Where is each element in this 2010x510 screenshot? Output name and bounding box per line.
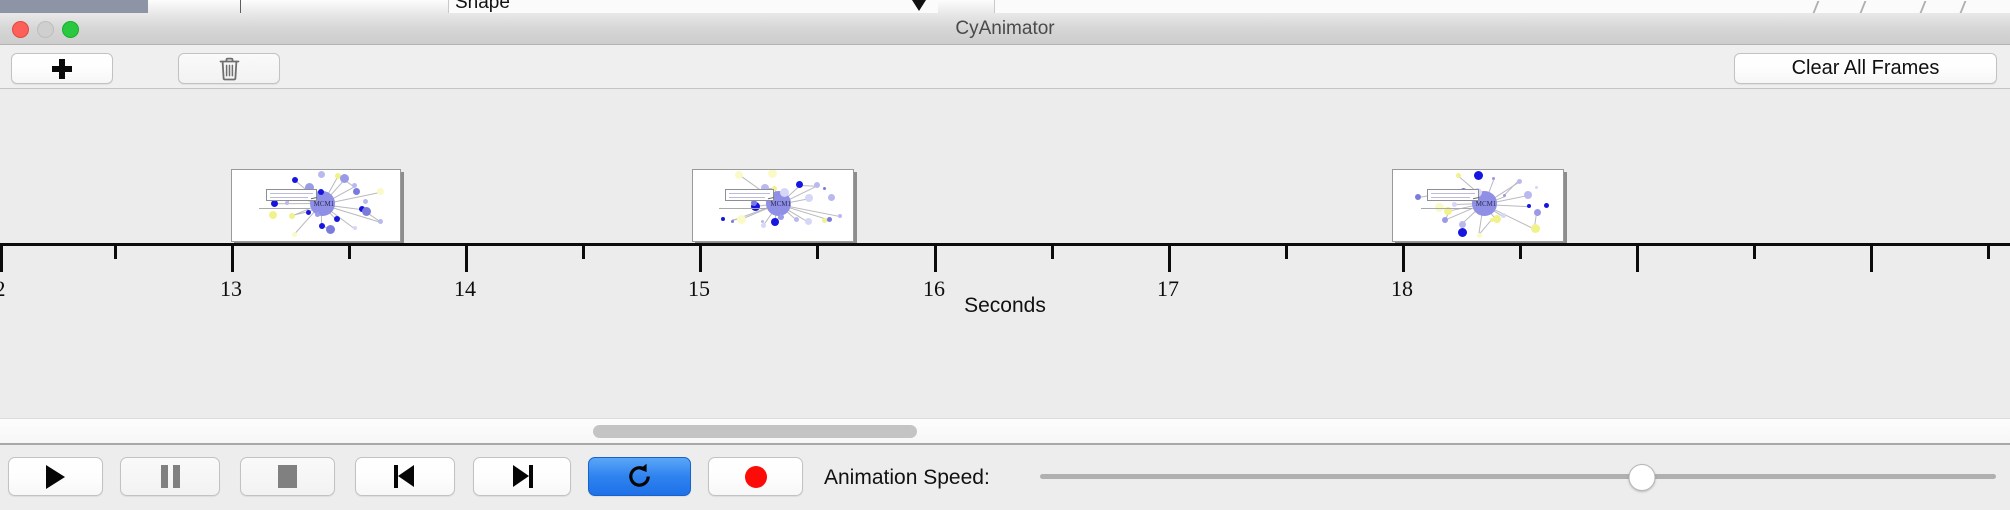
graph-node — [768, 170, 777, 178]
graph-node — [778, 214, 784, 220]
graph-node — [761, 223, 766, 228]
frame-thumbnail-1[interactable]: MCM1 — [231, 169, 401, 242]
ruler-tick-major — [1636, 246, 1639, 272]
background-chevron-icon — [1860, 1, 1881, 13]
graph-node — [828, 194, 835, 201]
graph-node — [1477, 233, 1482, 238]
graph-node — [1534, 209, 1541, 216]
ruler-tick-major — [1402, 246, 1405, 272]
trash-icon — [219, 57, 240, 81]
graph-caption-line — [719, 208, 768, 209]
ruler-tick-minor — [1051, 246, 1054, 259]
background-cell — [276, 0, 321, 13]
frame-network-thumbnail: MCM1 — [1393, 170, 1563, 241]
graph-node — [271, 200, 278, 207]
graph-node — [289, 213, 295, 219]
annotation-text-line — [1431, 193, 1475, 194]
scrollbar-thumb[interactable] — [593, 425, 917, 438]
background-chevron-icon — [1960, 1, 1981, 13]
toolbar: Clear All Frames — [0, 45, 2010, 89]
ruler-tick-major — [231, 246, 234, 272]
graph-node — [1415, 194, 1421, 200]
title-bar: CyAnimator — [0, 13, 2010, 45]
annotation-text-line — [270, 193, 313, 194]
graph-node — [1458, 228, 1467, 237]
ruler-axis-line — [0, 243, 2010, 246]
horizontal-scrollbar[interactable] — [0, 418, 2010, 443]
graph-annotation-box — [1427, 189, 1479, 201]
graph-annotation-box — [725, 189, 774, 201]
playback-toolbar: Animation Speed: — [0, 443, 2010, 510]
ruler-tick-major — [0, 246, 3, 272]
slider-thumb[interactable] — [1629, 464, 1656, 491]
ruler-tick-minor — [1753, 246, 1756, 259]
ruler-tick-minor — [1519, 246, 1522, 259]
graph-node — [1501, 213, 1506, 218]
graph-node — [827, 217, 832, 222]
background-cell — [380, 0, 449, 13]
animation-speed-slider[interactable] — [1040, 457, 1996, 496]
ruler-tick-minor — [114, 246, 117, 259]
slider-track[interactable] — [1040, 474, 1996, 479]
background-window-label: Shape — [455, 0, 510, 13]
graph-node — [780, 188, 789, 197]
ruler-tick-minor — [582, 246, 585, 259]
graph-node — [1452, 202, 1457, 207]
record-button[interactable] — [708, 457, 803, 496]
skip-to-start-button[interactable] — [355, 457, 455, 496]
background-cell — [938, 0, 995, 13]
window-title: CyAnimator — [0, 13, 2010, 45]
graph-node — [1531, 224, 1540, 233]
graph-node — [731, 220, 734, 223]
graph-node — [1492, 177, 1495, 180]
pause-icon — [161, 465, 180, 488]
add-frame-button[interactable] — [11, 53, 113, 84]
graph-node — [318, 189, 324, 195]
graph-node — [378, 219, 383, 224]
axis-title: Seconds — [0, 294, 2010, 318]
graph-node — [269, 211, 277, 219]
skip-forward-icon — [511, 465, 533, 488]
background-window-sidebar — [0, 0, 148, 13]
graph-node — [1544, 203, 1549, 208]
frame-thumbnail-3[interactable]: MCM1 — [1392, 169, 1564, 242]
play-button[interactable] — [8, 457, 103, 496]
graph-node — [771, 218, 779, 226]
graph-node — [1493, 215, 1501, 223]
graph-node — [735, 171, 743, 179]
graph-node — [1442, 217, 1448, 223]
ruler-tick-minor — [348, 246, 351, 259]
graph-node — [814, 182, 820, 188]
background-cell — [320, 0, 381, 13]
stop-icon — [278, 465, 297, 488]
timeline-ruler: 2131415161718 — [0, 243, 2010, 343]
ruler-tick-major — [1168, 246, 1171, 272]
skip-to-end-button[interactable] — [473, 457, 571, 496]
play-icon — [46, 465, 65, 489]
graph-node — [1517, 179, 1522, 184]
graph-node — [1527, 204, 1531, 208]
graph-node — [1503, 194, 1506, 197]
cyanimator-window: Shape CyAnimator Clear All — [0, 0, 2010, 510]
graph-node — [737, 215, 746, 224]
ruler-tick-minor — [816, 246, 819, 259]
graph-node — [838, 214, 842, 218]
annotation-text-line — [1431, 197, 1470, 198]
stop-button[interactable] — [240, 457, 335, 496]
timeline-panel[interactable]: MCM1MCM1MCM1 2131415161718 Seconds — [0, 89, 2010, 418]
graph-node — [315, 212, 320, 217]
graph-node — [353, 188, 360, 195]
graph-node — [292, 232, 297, 237]
graph-node — [805, 194, 813, 202]
animation-speed-label: Animation Speed: — [824, 466, 990, 490]
graph-node — [319, 223, 325, 229]
graph-node — [363, 199, 368, 204]
background-window-strip: Shape — [0, 0, 2010, 13]
record-icon — [745, 466, 767, 488]
annotation-text-line — [270, 197, 308, 198]
delete-frame-button[interactable] — [178, 53, 280, 84]
clear-all-frames-button[interactable]: Clear All Frames — [1734, 53, 1997, 84]
frame-network-thumbnail: MCM1 — [693, 170, 853, 241]
graph-node — [377, 188, 384, 195]
frame-network-thumbnail: MCM1 — [232, 170, 400, 241]
ruler-tick-major — [1870, 246, 1873, 272]
graph-node — [805, 218, 812, 225]
background-cell — [148, 0, 221, 13]
background-chevron-icon — [1920, 1, 1941, 13]
graph-annotation-box — [266, 189, 317, 201]
background-chevron-icon — [1813, 1, 1834, 13]
graph-node — [326, 225, 335, 234]
annotation-text-line — [729, 197, 765, 198]
ruler-tick-minor — [1987, 246, 1990, 259]
graph-node — [334, 216, 340, 222]
graph-node — [1459, 221, 1466, 228]
background-sort-caret — [912, 0, 926, 11]
clear-all-frames-label: Clear All Frames — [1792, 57, 1940, 80]
graph-node — [1524, 191, 1532, 199]
graph-node — [292, 177, 298, 183]
skip-back-icon — [394, 465, 416, 488]
graph-caption-line — [1421, 208, 1473, 209]
ruler-tick-major — [934, 246, 937, 272]
graph-node — [823, 187, 826, 190]
pause-button[interactable] — [120, 457, 220, 496]
annotation-text-line — [729, 193, 770, 194]
graph-node — [318, 171, 325, 178]
ruler-tick-minor — [1285, 246, 1288, 259]
ruler-tick-major — [465, 246, 468, 272]
graph-caption-line — [259, 208, 310, 209]
loop-button[interactable] — [588, 457, 691, 496]
frame-thumbnail-2[interactable]: MCM1 — [692, 169, 854, 242]
graph-node — [1474, 171, 1483, 180]
ruler-tick-major — [699, 246, 702, 272]
background-cell — [220, 0, 277, 13]
loop-icon — [626, 463, 653, 490]
graph-node — [794, 217, 799, 222]
background-tick — [240, 0, 241, 13]
graph-node — [721, 217, 725, 221]
graph-node — [796, 181, 803, 188]
graph-node — [1535, 186, 1538, 189]
plus-icon — [52, 59, 72, 79]
graph-node — [353, 226, 357, 230]
